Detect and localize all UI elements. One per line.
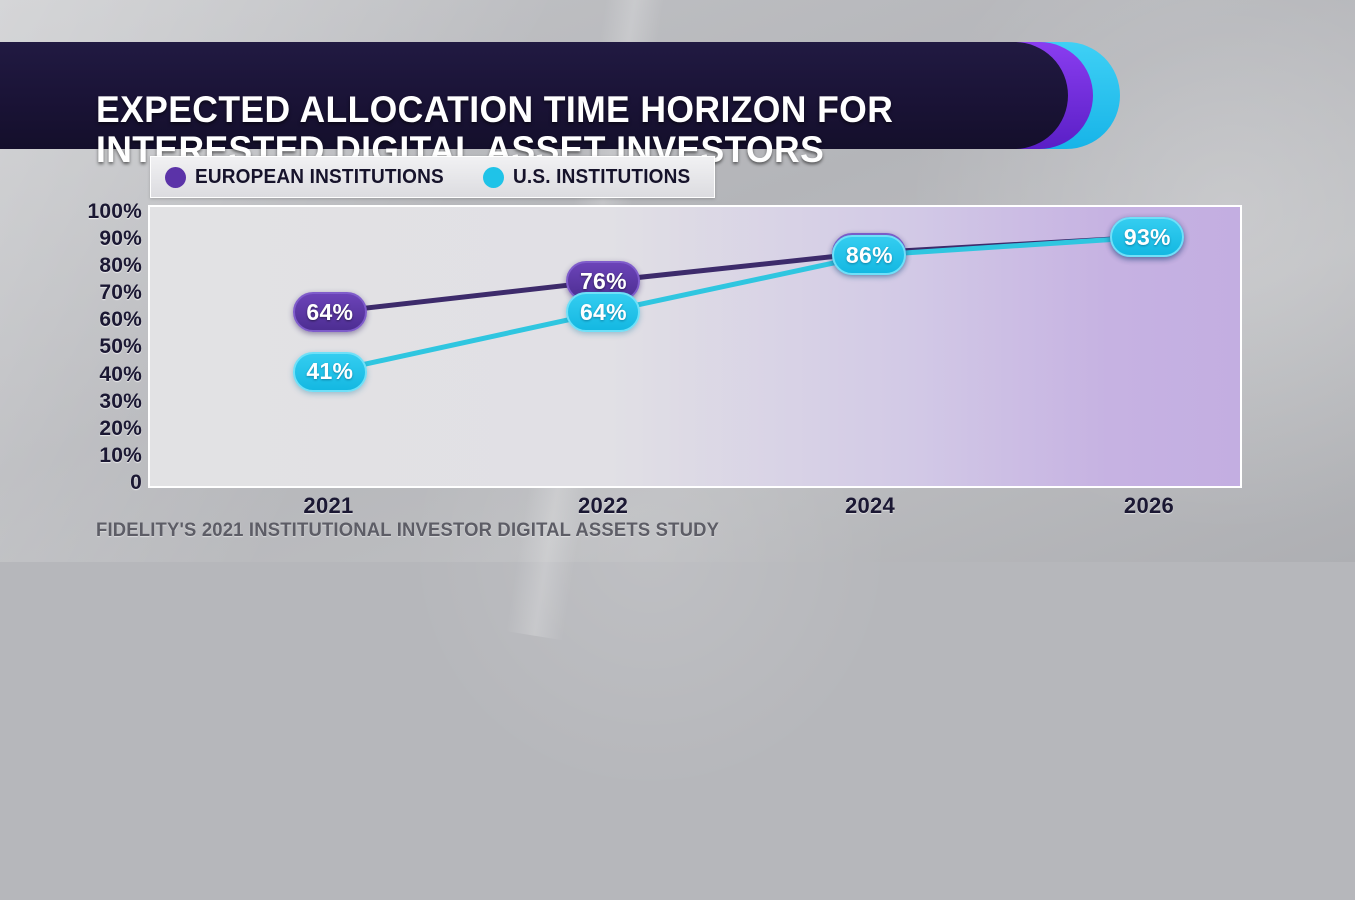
y-axis-tick: 40% <box>99 364 142 385</box>
y-axis-tick: 80% <box>99 255 142 276</box>
y-axis-tick: 60% <box>99 309 142 330</box>
legend-label-european: EUROPEAN INSTITUTIONS <box>195 166 444 189</box>
chart-plot-frame: 64%76%87%93%41%64%86%93% <box>148 205 1242 488</box>
x-axis-tick: 2021 <box>303 493 353 519</box>
legend-dot-european-icon <box>165 167 186 188</box>
series-line-us <box>330 237 1148 372</box>
series-line-european <box>330 237 1148 312</box>
y-axis: 100% 90% 80% 70% 60% 50% 40% 30% 20% 10%… <box>58 201 142 493</box>
chart-legend: EUROPEAN INSTITUTIONS U.S. INSTITUTIONS <box>150 156 715 198</box>
legend-dot-us-icon <box>483 167 504 188</box>
legend-item-european[interactable]: EUROPEAN INSTITUTIONS <box>165 166 457 189</box>
data-label-us-2026: 93% <box>1110 217 1184 257</box>
data-label-us-2021: 41% <box>293 352 367 392</box>
x-axis-tick: 2026 <box>1124 493 1174 519</box>
x-axis-tick: 2024 <box>845 493 895 519</box>
x-axis-tick: 2022 <box>578 493 628 519</box>
source-note: FIDELITY'S 2021 INSTITUTIONAL INVESTOR D… <box>96 520 719 542</box>
legend-item-us[interactable]: U.S. INSTITUTIONS <box>483 166 700 189</box>
chart-lines <box>150 207 1240 486</box>
y-axis-tick: 10% <box>99 445 142 466</box>
x-axis: 2021 2022 2024 2026 <box>148 493 1242 521</box>
title-banner: EXPECTED ALLOCATION TIME HORIZON FOR INT… <box>0 42 1120 149</box>
data-label-us-2022: 64% <box>566 292 640 332</box>
data-label-us-2024: 86% <box>832 235 906 275</box>
y-axis-tick: 30% <box>99 391 142 412</box>
y-axis-tick: 90% <box>99 228 142 249</box>
y-axis-tick: 0 <box>130 472 142 493</box>
y-axis-tick: 50% <box>99 336 142 357</box>
y-axis-tick: 70% <box>99 282 142 303</box>
y-axis-tick: 20% <box>99 418 142 439</box>
y-axis-tick: 100% <box>87 201 142 222</box>
data-label-european-2021: 64% <box>293 292 367 332</box>
legend-label-us: U.S. INSTITUTIONS <box>513 166 690 189</box>
